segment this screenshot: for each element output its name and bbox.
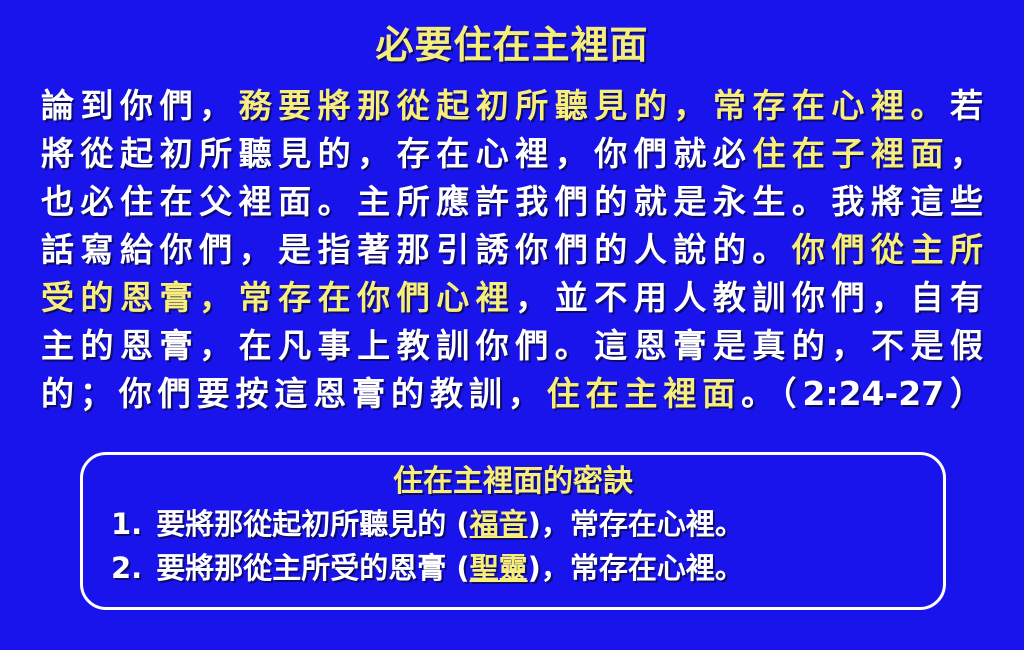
normal-text: )，常存在心裡。 xyxy=(528,551,744,585)
normal-text: ， xyxy=(950,134,983,173)
highlighted-text: 受的恩膏，常存在你們心裡 xyxy=(41,278,515,317)
slide-title: 必要住在主裡面 xyxy=(375,26,648,64)
highlighted-underlined-text: 福音 xyxy=(470,507,528,541)
normal-text: 要將那從主所受的恩膏 ( xyxy=(156,551,469,585)
summary-box-heading: 住在主裡面的密訣 xyxy=(83,464,943,500)
summary-box-item: 1. 要將那從起初所聽見的 (福音)，常存在心裡。 xyxy=(83,502,943,546)
presentation-slide: 必要住在主裡面 論到你們，務要將那從起初所聽見的，常存在心裡。若將從起初所聽見的… xyxy=(0,0,1024,650)
normal-text: 若 xyxy=(950,86,983,125)
scripture-line: 受的恩膏，常存在你們心裡，並不用人教訓你們，自有 xyxy=(41,274,983,322)
normal-text: 話寫給你們，是指著那引誘你們的人說的。 xyxy=(41,230,792,269)
item-number: 2. xyxy=(111,551,152,585)
highlighted-text: 務要將那從起初所聽見的，常存在心裡。 xyxy=(239,86,950,125)
normal-text: ，並不用人教訓你們，自有 xyxy=(515,278,983,317)
scripture-line: 將從起初所聽見的，存在心裡，你們就必住在子裡面， xyxy=(41,130,983,178)
highlighted-underlined-text: 聖靈 xyxy=(470,551,528,585)
normal-text: 的；你們要按這恩膏的教訓， xyxy=(41,374,547,413)
normal-text: )，常存在心裡。 xyxy=(528,507,744,541)
normal-text: 主的恩膏，在凡事上教訓你們。這恩膏是真的，不是假 xyxy=(41,326,983,365)
item-number: 1. xyxy=(111,507,152,541)
normal-text: 也必住在父裡面。主所應許我們的就是永生。我將這些 xyxy=(41,182,983,221)
normal-text: 論到你們， xyxy=(41,86,239,125)
highlighted-text: 你們從主所 xyxy=(792,230,983,269)
scripture-line: 論到你們，務要將那從起初所聽見的，常存在心裡。若 xyxy=(41,82,983,130)
scripture-line: 也必住在父裡面。主所應許我們的就是永生。我將這些 xyxy=(41,178,983,226)
scripture-line: 話寫給你們，是指著那引誘你們的人說的。你們從主所 xyxy=(41,226,983,274)
highlighted-text: 住在主裡面 xyxy=(547,374,741,413)
scripture-line: 的；你們要按這恩膏的教訓，住在主裡面。（2:24-27） xyxy=(41,370,983,418)
summary-box-item: 2. 要將那從主所受的恩膏 (聖靈)，常存在心裡。 xyxy=(83,546,943,590)
scripture-line: 主的恩膏，在凡事上教訓你們。這恩膏是真的，不是假 xyxy=(41,322,983,370)
highlighted-text: 住在子裡面 xyxy=(752,134,950,173)
normal-text: 。（2:24-27） xyxy=(741,374,983,413)
normal-text: 將從起初所聽見的，存在心裡，你們就必 xyxy=(41,134,752,173)
scripture-passage: 論到你們，務要將那從起初所聽見的，常存在心裡。若將從起初所聽見的，存在心裡，你們… xyxy=(41,82,983,418)
summary-box-list: 1. 要將那從起初所聽見的 (福音)，常存在心裡。2. 要將那從主所受的恩膏 (… xyxy=(83,502,943,590)
normal-text: 要將那從起初所聽見的 ( xyxy=(156,507,469,541)
summary-box: 住在主裡面的密訣 1. 要將那從起初所聽見的 (福音)，常存在心裡。2. 要將那… xyxy=(80,452,946,610)
